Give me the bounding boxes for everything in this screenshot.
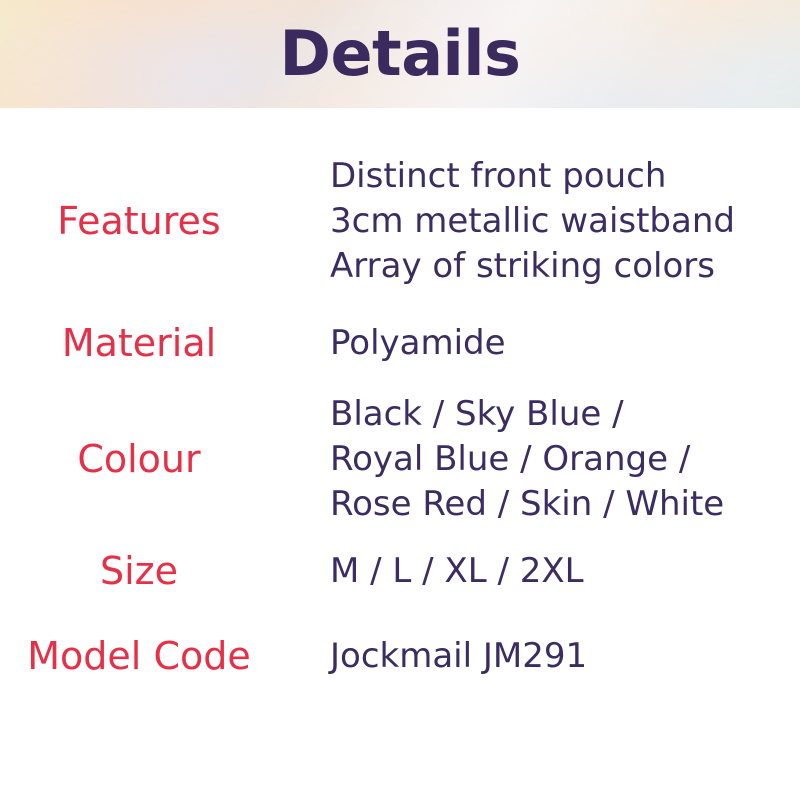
spec-label-model-code: Model Code: [0, 635, 330, 678]
spec-label-features: Features: [0, 200, 330, 243]
spec-value-line: Polyamide: [330, 321, 800, 366]
spec-label-material: Material: [0, 322, 330, 365]
table-row: Colour Black / Sky Blue / Royal Blue / O…: [0, 392, 800, 549]
spec-value-features: Distinct front pouch 3cm metallic waistb…: [330, 154, 800, 289]
spec-label-size: Size: [0, 550, 330, 593]
spec-label-colour: Colour: [0, 438, 330, 481]
spec-value-line: Array of striking colors: [330, 244, 800, 289]
spec-value-line: Distinct front pouch: [330, 154, 800, 199]
spec-value-line: 3cm metallic waistband: [330, 199, 800, 244]
spec-value-line: Jockmail JM291: [330, 634, 800, 679]
spec-value-colour: Black / Sky Blue / Royal Blue / Orange /…: [330, 392, 800, 527]
page-header: Details: [0, 0, 800, 108]
spec-value-line: Royal Blue / Orange /: [330, 437, 800, 482]
spec-value-material: Polyamide: [330, 321, 800, 366]
table-row: Model Code Jockmail JM291: [0, 634, 800, 679]
page-title: Details: [0, 23, 800, 85]
spec-value-line: Black / Sky Blue /: [330, 392, 800, 437]
spec-value-model-code: Jockmail JM291: [330, 634, 800, 679]
details-page: Details Features Distinct front pouch 3c…: [0, 0, 800, 800]
table-row: Size M / L / XL / 2XL: [0, 549, 800, 634]
specifications-table: Features Distinct front pouch 3cm metall…: [0, 108, 800, 679]
spec-value-size: M / L / XL / 2XL: [330, 549, 800, 594]
table-row: Material Polyamide: [0, 321, 800, 392]
spec-value-line: Rose Red / Skin / White: [330, 482, 800, 527]
table-row: Features Distinct front pouch 3cm metall…: [0, 154, 800, 321]
spec-value-line: M / L / XL / 2XL: [330, 549, 800, 594]
